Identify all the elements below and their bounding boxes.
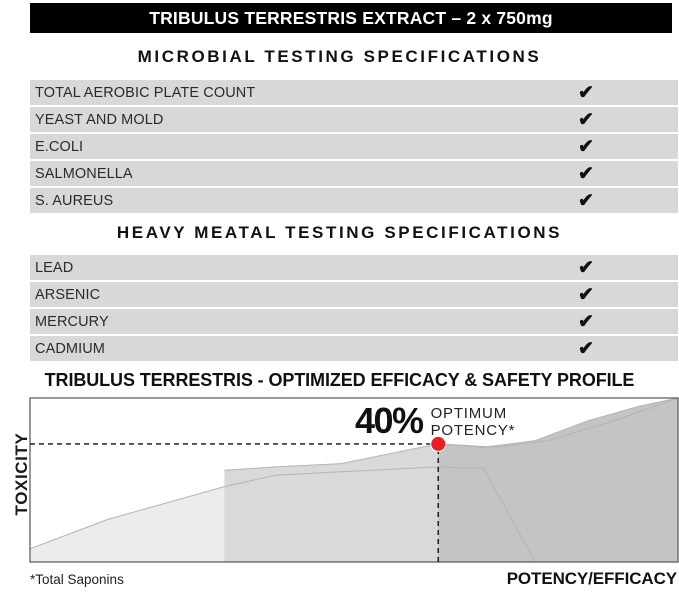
check-icon: ✔: [578, 312, 594, 331]
section-heading-heavy-metal: HEAVY MEATAL TESTING SPECIFICATIONS: [0, 223, 679, 243]
optimum-potency-caption: OPTIMUMPOTENCY*: [431, 406, 516, 440]
table-row: YEAST AND MOLD ✔: [30, 107, 678, 132]
table-row: MERCURY ✔: [30, 309, 678, 334]
chart-x-axis-label: POTENCY/EFFICACY: [507, 569, 677, 589]
check-icon: ✔: [578, 285, 594, 304]
table-row: SALMONELLA ✔: [30, 161, 678, 186]
product-spec-sheet: TRIBULUS TERRESTRIS EXTRACT – 2 x 750mg …: [0, 0, 679, 592]
optimum-potency-value: 40%: [355, 404, 423, 438]
chart-footnote: *Total Saponins: [30, 572, 124, 587]
spec-label: CADMIUM: [30, 341, 105, 357]
spec-label: YEAST AND MOLD: [30, 112, 163, 128]
spec-label: ARSENIC: [30, 287, 100, 303]
spec-label: MERCURY: [30, 314, 109, 330]
check-icon: ✔: [578, 191, 594, 210]
spec-label: TOTAL AEROBIC PLATE COUNT: [30, 85, 255, 101]
spec-label: E.COLI: [30, 139, 83, 155]
section-heading-microbial: MICROBIAL TESTING SPECIFICATIONS: [0, 47, 679, 67]
check-icon: ✔: [578, 339, 594, 358]
product-title-bar: TRIBULUS TERRESTRIS EXTRACT – 2 x 750mg: [30, 3, 672, 33]
chart-title: TRIBULUS TERRESTRIS - OPTIMIZED EFFICACY…: [0, 370, 679, 391]
table-row: TOTAL AEROBIC PLATE COUNT ✔: [30, 80, 678, 105]
check-icon: ✔: [578, 83, 594, 102]
table-row: LEAD ✔: [30, 255, 678, 280]
spec-label: S. AUREUS: [30, 193, 113, 209]
table-row: E.COLI ✔: [30, 134, 678, 159]
check-icon: ✔: [578, 110, 594, 129]
efficacy-safety-chart: TOXICITY: [0, 392, 679, 592]
page-title: TRIBULUS TERRESTRIS EXTRACT – 2 x 750mg: [149, 8, 553, 29]
check-icon: ✔: [578, 258, 594, 277]
spec-label: LEAD: [30, 260, 73, 276]
table-row: S. AUREUS ✔: [30, 188, 678, 213]
check-icon: ✔: [578, 137, 594, 156]
spec-label: SALMONELLA: [30, 166, 133, 182]
table-row: ARSENIC ✔: [30, 282, 678, 307]
optimum-potency-callout: 40% OPTIMUMPOTENCY*: [355, 404, 515, 440]
check-icon: ✔: [578, 164, 594, 183]
microbial-spec-table: TOTAL AEROBIC PLATE COUNT ✔ YEAST AND MO…: [30, 80, 678, 215]
table-row: CADMIUM ✔: [30, 336, 678, 361]
chart-plot-area: [0, 392, 679, 572]
heavy-metal-spec-table: LEAD ✔ ARSENIC ✔ MERCURY ✔ CADMIUM ✔: [30, 255, 678, 363]
